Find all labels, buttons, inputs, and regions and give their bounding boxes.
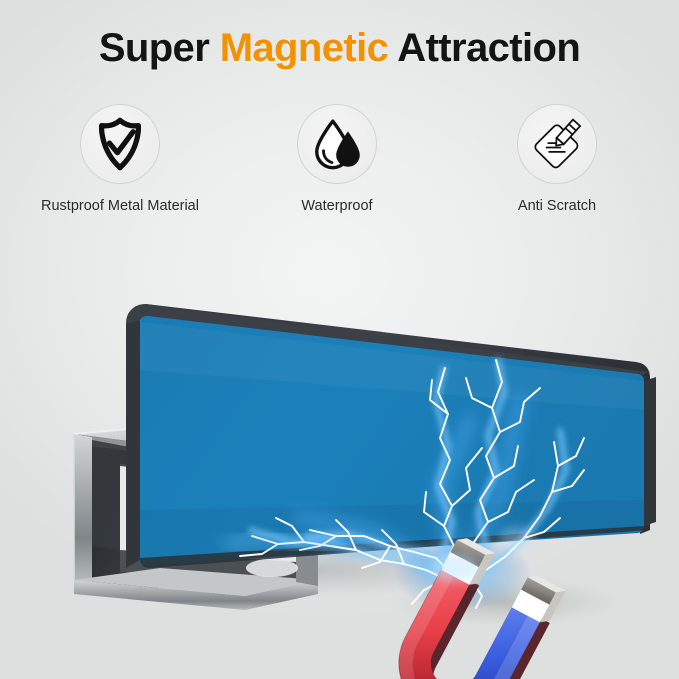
page-title: Super Magnetic Attraction: [0, 26, 679, 71]
feature-waterproof: Waterproof: [237, 104, 437, 214]
product-scene: [0, 250, 679, 679]
feature-label: Waterproof: [237, 198, 437, 214]
shield-check-icon: [80, 104, 160, 184]
feature-label: Anti Scratch: [457, 198, 657, 214]
title-word-super: Super: [99, 26, 220, 70]
feature-label: Rustproof Metal Material: [20, 198, 220, 214]
feature-anti-scratch: Anti Scratch: [457, 104, 657, 214]
feature-list: Rustproof Metal Material Waterproof: [0, 104, 679, 234]
magnetic-panel: [126, 304, 656, 568]
product-marketing-image: Super Magnetic Attraction Rustproof Meta…: [0, 0, 679, 679]
title-word-attraction: Attraction: [388, 26, 580, 70]
title-word-magnetic: Magnetic: [220, 26, 389, 70]
feature-rustproof: Rustproof Metal Material: [20, 104, 220, 214]
anti-scratch-icon: [517, 104, 597, 184]
water-drop-icon: [297, 104, 377, 184]
